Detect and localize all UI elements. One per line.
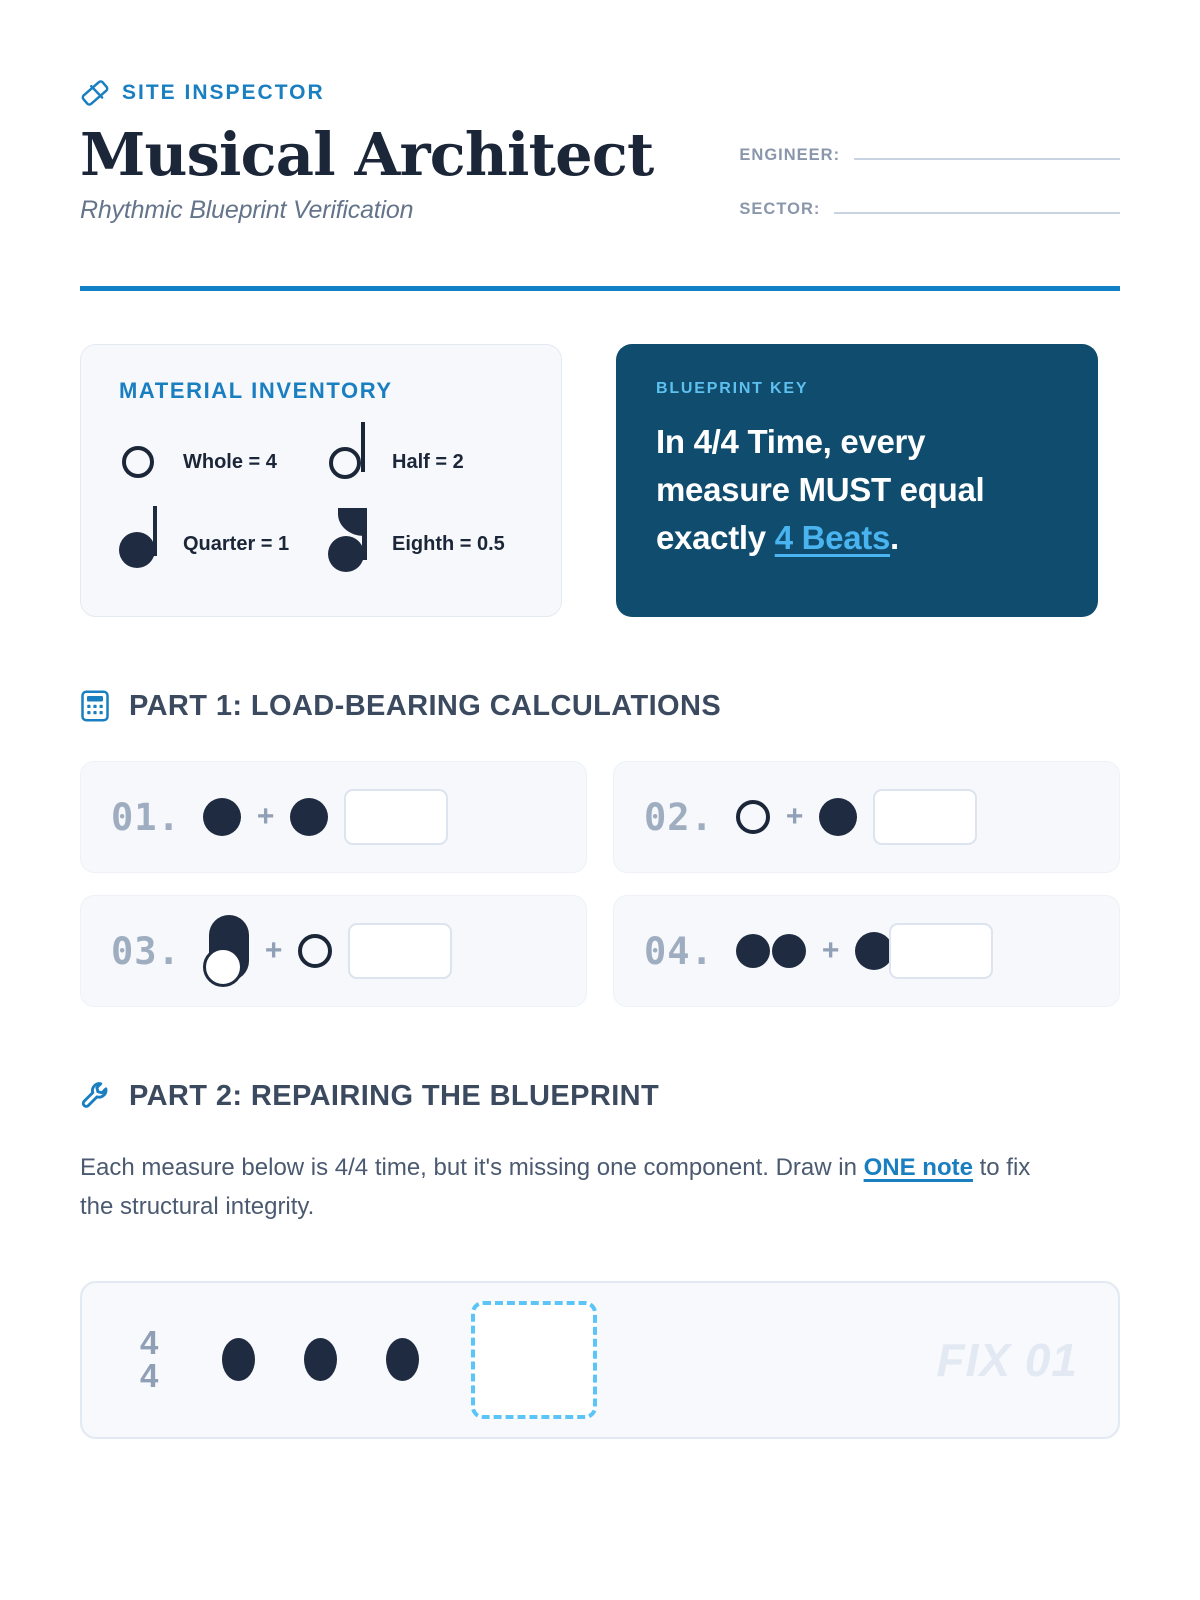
blueprint-key-eyebrow: BLUEPRINT KEY [656,380,1060,398]
worksheet-page: SITE INSPECTOR Musical Architect Rhythmi… [0,0,1200,1439]
whole-note-icon [736,800,770,834]
blueprint-key-text: In 4/4 Time, every measure MUST equal ex… [656,418,1060,563]
part1-heading: PART 1: LOAD-BEARING CALCULATIONS [80,689,1120,723]
inventory-item-label: Half = 2 [392,450,464,475]
part1-problem-grid: 01. + 02. + 03. [80,761,1120,1007]
inventory-title: MATERIAL INVENTORY [119,378,523,404]
half-note-icon [203,915,249,987]
problem-expression: + [736,798,858,836]
problem-expression: + [203,798,329,836]
part1-title: PART 1: LOAD-BEARING CALCULATIONS [129,690,721,723]
note-drop-zone[interactable] [471,1301,597,1419]
quarter-note-icon [386,1338,419,1381]
calculator-icon [80,689,110,723]
answer-input-04[interactable] [889,923,993,979]
ruler-icon [80,78,110,108]
info-cards-row: MATERIAL INVENTORY Whole = 4 Half = 2 [80,344,1120,617]
problem-number: 03. [111,930,181,973]
engineer-label: ENGINEER: [739,146,840,165]
blueprint-key-card: BLUEPRINT KEY In 4/4 Time, every measure… [616,344,1098,617]
measure-notes [222,1338,419,1381]
engineer-field-row: ENGINEER: [739,140,1120,165]
time-signature-bottom: 4 [140,1360,158,1392]
instruction-link[interactable]: ONE note [864,1154,973,1181]
eighth-note-pair-icon [736,934,806,968]
problem-01: 01. + [80,761,587,873]
inventory-item-eighth: Eighth = 0.5 [328,512,523,576]
inventory-item-label: Quarter = 1 [183,532,289,557]
sector-input[interactable] [834,194,1120,214]
header-divider [80,286,1120,291]
quarter-note-icon [855,932,893,970]
measure-tag: FIX 01 [936,1333,1078,1387]
problem-02: 02. + [613,761,1120,873]
half-note-icon [328,430,378,494]
engineer-input[interactable] [854,140,1120,160]
problem-expression: + [203,915,333,987]
key-text-after: . [890,519,899,556]
time-signature-top: 4 [140,1327,158,1359]
wrench-icon [80,1079,110,1113]
problem-04: 04. + [613,895,1120,1007]
whole-note-icon [298,934,332,968]
measure-fix-01: 4 4 FIX 01 [80,1281,1120,1439]
quarter-note-icon [119,512,169,576]
inventory-item-label: Eighth = 0.5 [392,532,505,557]
answer-input-02[interactable] [873,789,977,845]
inventory-item-quarter: Quarter = 1 [119,512,314,576]
eyebrow: SITE INSPECTOR [80,78,653,108]
plus-operator: + [786,802,804,832]
problem-03: 03. + [80,895,587,1007]
whole-note-icon [119,430,169,494]
inventory-item-label: Whole = 4 [183,450,277,475]
page-subtitle: Rhythmic Blueprint Verification [80,196,653,225]
key-highlight: 4 Beats [775,519,890,556]
problem-number: 02. [644,796,714,839]
material-inventory-card: MATERIAL INVENTORY Whole = 4 Half = 2 [80,344,562,617]
eyebrow-label: SITE INSPECTOR [122,81,325,105]
instruction-before: Each measure below is 4/4 time, but it's… [80,1154,864,1181]
eighth-note-icon [328,512,378,576]
quarter-note-icon [222,1338,255,1381]
page-title: Musical Architect [80,124,653,186]
plus-operator: + [257,802,275,832]
header-fields: ENGINEER: SECTOR: [739,78,1120,248]
sector-label: SECTOR: [739,200,820,219]
header-title-block: SITE INSPECTOR Musical Architect Rhythmi… [80,78,653,225]
inventory-item-whole: Whole = 4 [119,430,314,494]
part2-title: PART 2: REPAIRING THE BLUEPRINT [129,1080,659,1113]
quarter-note-icon [203,798,241,836]
answer-input-03[interactable] [348,923,452,979]
inventory-item-half: Half = 2 [328,430,523,494]
problem-number: 04. [644,930,714,973]
sector-field-row: SECTOR: [739,194,1120,219]
time-signature: 4 4 [140,1327,158,1392]
quarter-note-icon [304,1338,337,1381]
part2-heading: PART 2: REPAIRING THE BLUEPRINT [80,1079,1120,1113]
page-header: SITE INSPECTOR Musical Architect Rhythmi… [80,78,1120,248]
inventory-grid: Whole = 4 Half = 2 Quarter = 1 [119,430,523,576]
part2-instruction: Each measure below is 4/4 time, but it's… [80,1149,1070,1227]
problem-expression: + [736,932,894,970]
answer-input-01[interactable] [344,789,448,845]
plus-operator: + [265,936,283,966]
problem-number: 01. [111,796,181,839]
quarter-note-icon [290,798,328,836]
quarter-note-icon [819,798,857,836]
plus-operator: + [822,936,840,966]
